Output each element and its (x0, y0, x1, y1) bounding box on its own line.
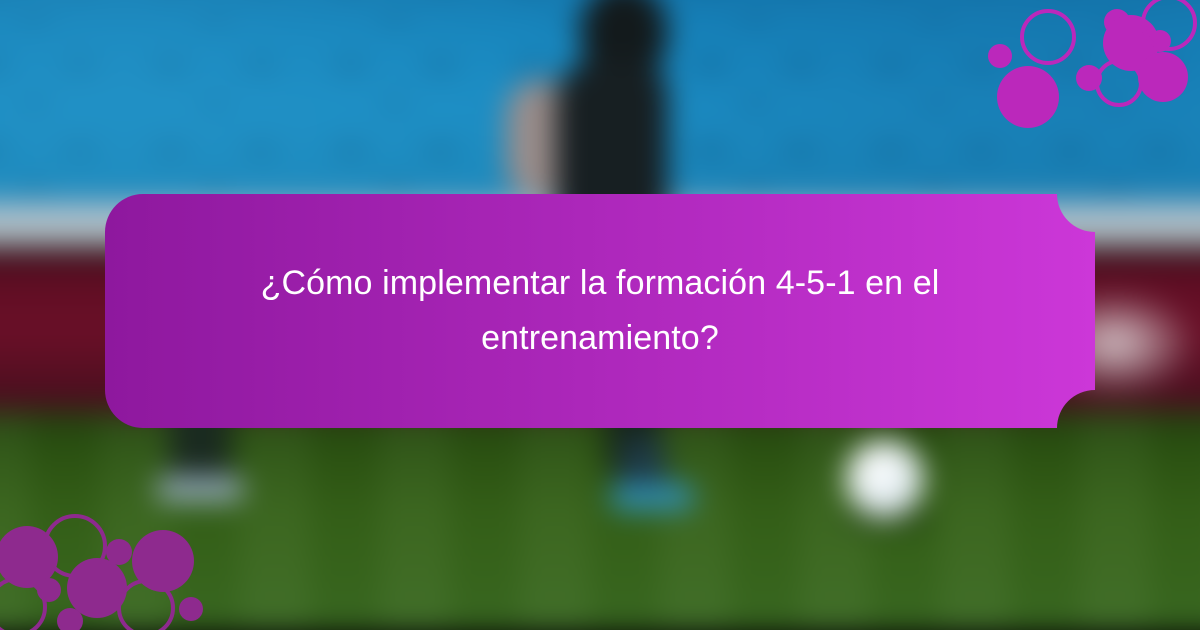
decorative-circle-tr-1 (1022, 11, 1074, 63)
decorative-circle-tr-9 (1138, 52, 1188, 102)
soccer-ball (846, 440, 924, 518)
banner-title: ¿Cómo implementar la formación 4-5-1 en … (210, 256, 990, 366)
circles-top-right-svg (970, 0, 1200, 130)
circles-bottom-left-svg (0, 500, 230, 630)
decorative-circle-bl-8 (132, 530, 194, 592)
decorative-circle-bl-6 (106, 539, 132, 565)
decorative-circles-bottom-left (0, 500, 230, 630)
second-player-boot (156, 476, 244, 502)
share-card: ¿Cómo implementar la formación 4-5-1 en … (0, 0, 1200, 630)
decorative-circle-tr-0 (988, 44, 1012, 68)
player-boot (610, 484, 694, 510)
title-banner: ¿Cómo implementar la formación 4-5-1 en … (105, 194, 1095, 428)
decorative-circle-tr-2 (997, 66, 1059, 128)
decorative-circles-top-right (970, 0, 1200, 130)
decorative-circle-bl-9 (179, 597, 203, 621)
